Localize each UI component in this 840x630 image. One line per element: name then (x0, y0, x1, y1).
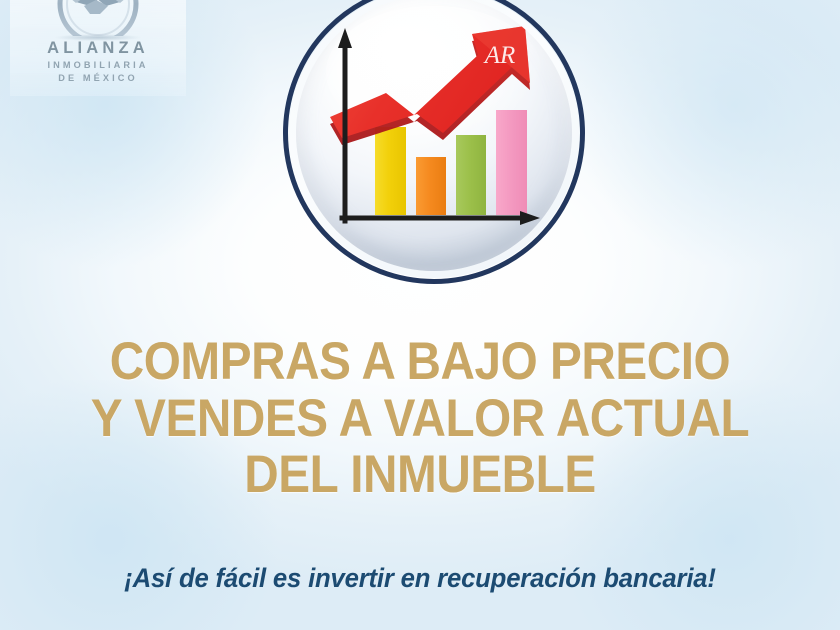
logo-line-alianza: ALIANZA (10, 38, 186, 58)
handshake-circle-emblem-icon (46, 0, 150, 36)
brand-logo: ALIANZA INMOBILIARIA DE MÉXICO (10, 0, 186, 96)
headline-line-1: COMPRAS A BAJO PRECIO (42, 334, 798, 391)
growth-chart-emblem: AR (283, 0, 585, 284)
logo-line-inmobiliaria: INMOBILIARIA (10, 59, 186, 72)
page-title: COMPRAS A BAJO PRECIO Y VENDES A VALOR A… (0, 334, 840, 504)
growth-bar-chart-arrow-icon: AR (296, 0, 572, 271)
promotional-poster: ALIANZA INMOBILIARIA DE MÉXICO (0, 0, 840, 630)
emblem-disc: AR (296, 0, 572, 271)
headline-line-2: Y VENDES A VALOR ACTUAL (42, 391, 798, 448)
arrow-monogram: AR (483, 42, 516, 69)
logo-line-de-mexico: DE MÉXICO (10, 72, 186, 85)
logo-wordmark: ALIANZA INMOBILIARIA DE MÉXICO (10, 38, 186, 86)
headline-line-3: DEL INMUEBLE (42, 447, 798, 504)
corner-tint-top-right (570, 0, 840, 270)
tagline: ¡Así de fácil es invertir en recuperació… (13, 563, 828, 594)
